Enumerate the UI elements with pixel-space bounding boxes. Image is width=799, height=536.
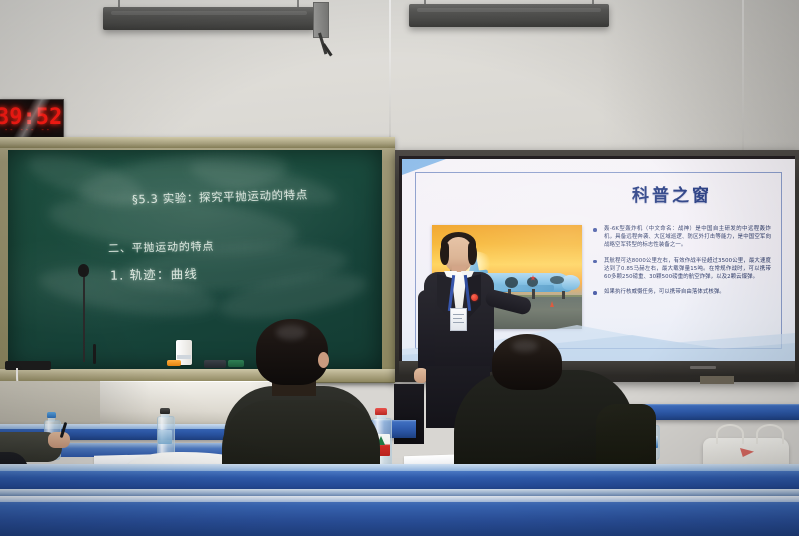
bag-strap [716,424,744,444]
front-desk-rail [0,489,799,496]
bullet-text: 其航程可达8000公里左右，有效作战半径超过3500公里，最大速度达到了0.85… [604,257,771,282]
water-bottle[interactable] [157,408,173,458]
presenter-left-arm [418,290,435,374]
blackboard-eraser[interactable] [204,360,226,368]
orange-chalk[interactable] [167,360,181,366]
classroom-screenshot: 39:52 -- --- -- §5.3 实验：探究平抛运动的特点 二、平抛运动… [0,0,799,536]
ceiling-light-bar-left [103,7,315,30]
presenter-hair-side [440,243,449,265]
list-item: 如果执行核威慑任务，可以携带自由落体式核弹。 [593,288,771,296]
slide-bullet-list: 轰-6K型轰炸机（中文命名：战神）是中国自主研发的中远程轰炸机，具备远程奔袭、大… [593,225,771,303]
student-ear [318,352,329,368]
blackboard-line-section: 二、平抛运动的特点 [108,238,215,256]
wall-shading [600,0,799,160]
blackboard-surface [8,150,382,370]
list-item: 其航程可达8000公里左右，有效作战半径超过3500公里，最大速度达到了0.85… [593,257,771,282]
list-item: 轰-6K型轰炸机（中文命名：战神）是中国自主研发的中远程轰炸机，具备远程奔袭、大… [593,225,771,250]
screen-stand-foot [700,376,734,384]
front-bench-highlight [0,496,799,502]
microphone-head-icon [78,264,89,277]
wall-seam [742,0,744,160]
bullet-dot-icon [593,291,597,295]
marker-pen[interactable] [93,344,96,364]
front-desk-surface [0,464,799,471]
bullet-text: 如果执行核威慑任务，可以携带自由落体式核弹。 [604,288,771,296]
front-bench [0,496,799,536]
bullet-text: 轰-6K型轰炸机（中文命名：战神）是中国自主研发的中远程轰炸机，具备远程奔袭、大… [604,225,771,250]
screen-brand-mark [690,366,716,369]
student-left-hand [48,432,70,448]
green-eraser[interactable] [228,360,244,367]
blackboard-line-point: 1. 轨迹：曲线 [110,263,198,284]
chalk-box-label [177,355,191,359]
blackboard-top-rail [0,137,395,148]
ceiling-light-bar-right [409,4,609,27]
desk-surface [0,424,246,429]
hair-highlight [276,325,306,340]
wall-seam [389,0,391,160]
hair-highlight [512,340,538,352]
slide-title: 科普之窗 [572,181,772,206]
clock-glare [2,99,64,137]
id-badge [450,308,467,331]
bag-strap [756,424,784,444]
microphone-stand [83,270,85,362]
bullet-dot-icon [593,260,597,264]
bullet-dot-icon [593,228,597,232]
lapel-pin-icon [471,294,478,301]
presenter-hair-side [468,243,477,265]
